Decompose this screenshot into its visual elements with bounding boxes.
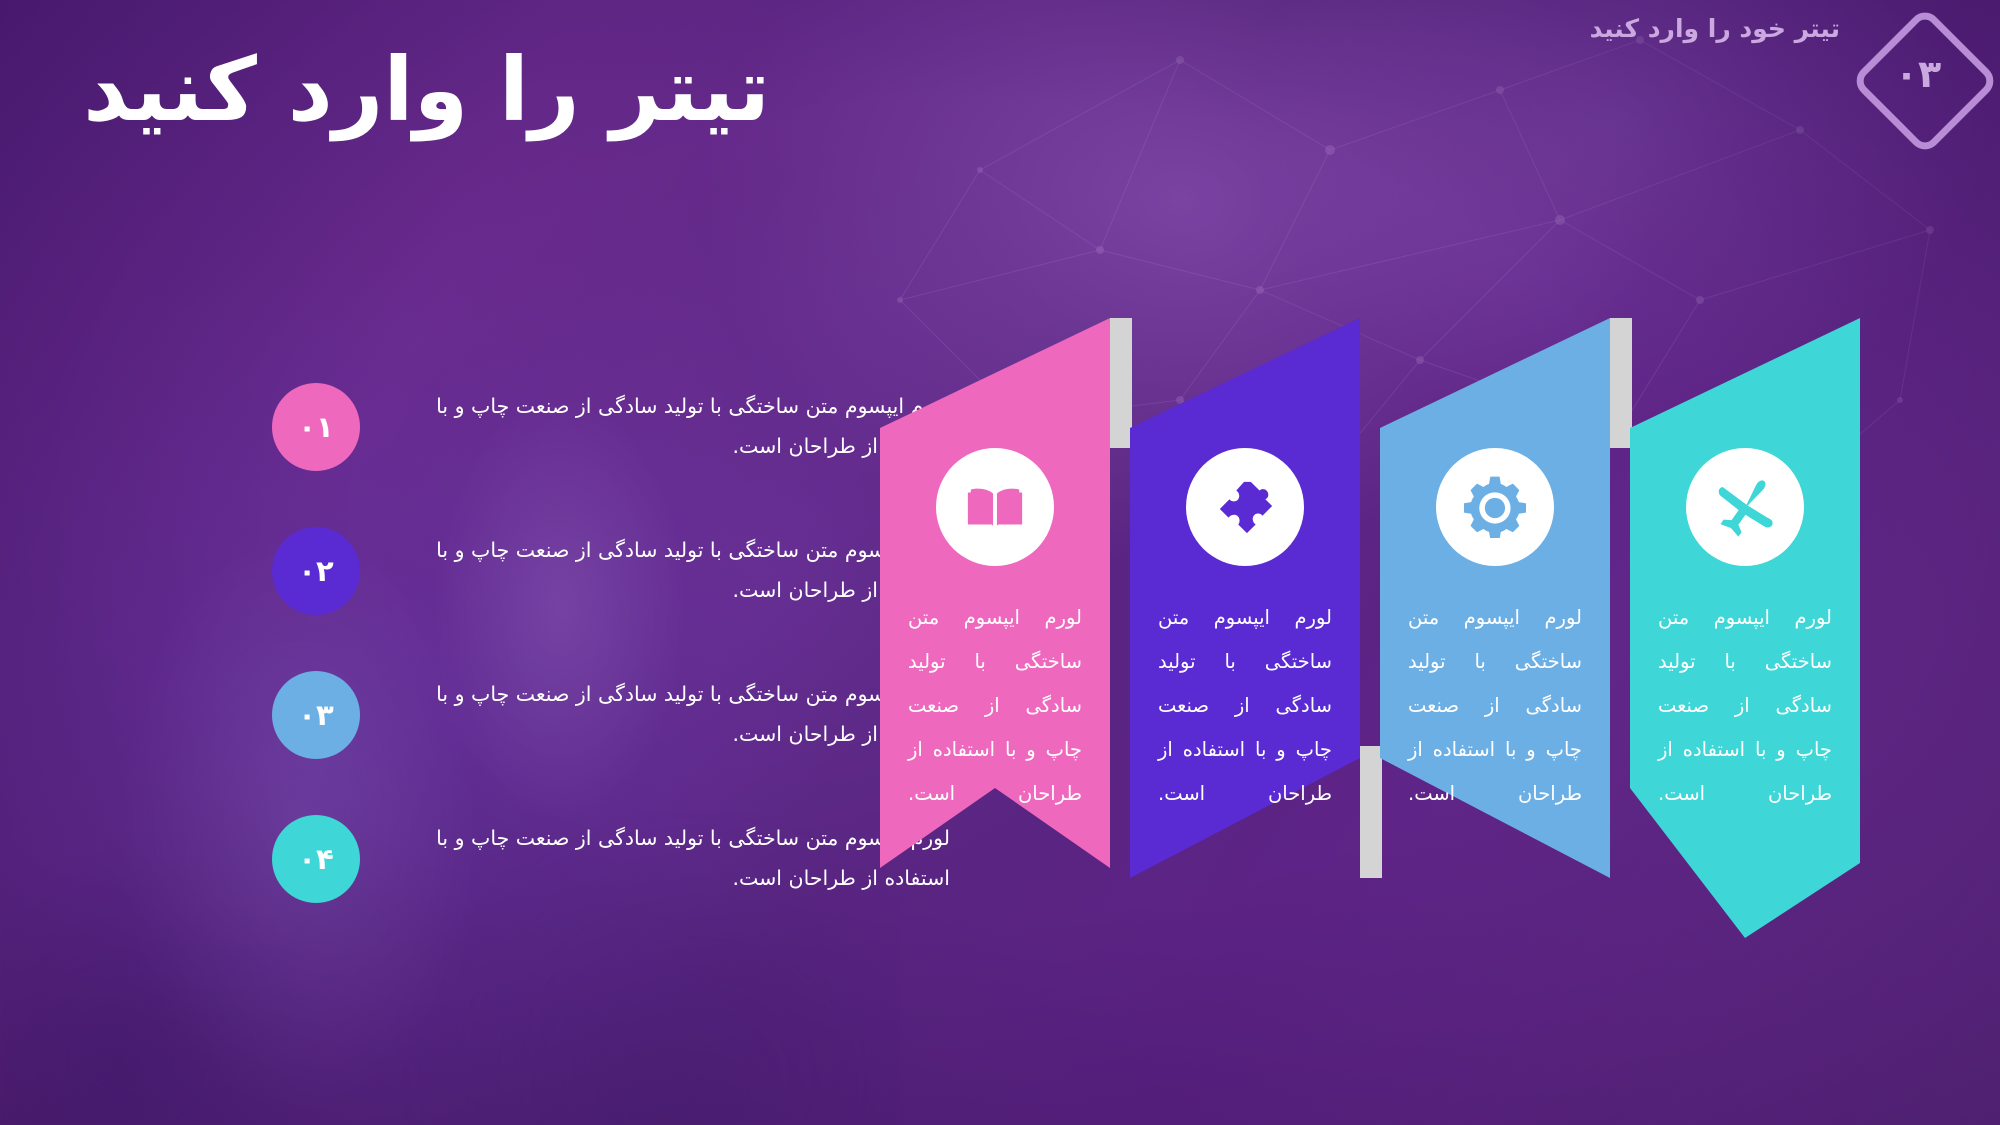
numbered-list: لورم ایپسوم متن ساختگی با تولید سادگی از…: [100, 355, 950, 931]
list-item[interactable]: لورم ایپسوم متن ساختگی با تولید سادگی از…: [100, 787, 950, 931]
airplane-icon: [1714, 476, 1776, 538]
list-item-number-badge: ۰۲: [272, 527, 360, 615]
ribbon-group: لورم ایپسوم متن ساختگی با تولید سادگی از…: [880, 318, 1970, 1038]
slide-number-text: ۰۳: [1858, 14, 1978, 134]
list-item-text: لورم ایپسوم متن ساختگی با تولید سادگی از…: [360, 819, 950, 899]
list-item-number: ۰۳: [298, 698, 333, 732]
puzzle-icon: [1214, 476, 1276, 538]
ribbon-divider-strip: [1610, 318, 1632, 448]
page-title: تیتر را وارد کنید: [83, 38, 770, 141]
ribbon-card-gear[interactable]: لورم ایپسوم متن ساختگی با تولید سادگی از…: [1380, 318, 1610, 1018]
ribbon-icon-circle: [1186, 448, 1304, 566]
slide-canvas: تیتر خود را وارد کنید ۰۳ تیتر را وارد کن…: [0, 0, 2000, 1125]
list-item-number: ۰۴: [298, 842, 333, 876]
ribbon-icon-circle: [936, 448, 1054, 566]
ribbon-divider-strip: [1360, 746, 1382, 878]
ribbon-card-puzzle[interactable]: لورم ایپسوم متن ساختگی با تولید سادگی از…: [1130, 318, 1360, 1018]
ribbon-icon-circle: [1436, 448, 1554, 566]
list-item[interactable]: لورم ایپسوم متن ساختگی با تولید سادگی از…: [100, 643, 950, 787]
ribbon-caption: لورم ایپسوم متن ساختگی با تولید سادگی از…: [908, 596, 1082, 815]
book-icon: [964, 476, 1026, 538]
list-item-text: لورم ایپسوم متن ساختگی با تولید سادگی از…: [360, 387, 950, 467]
list-item-number: ۰۲: [298, 554, 333, 588]
list-item[interactable]: لورم ایپسوم متن ساختگی با تولید سادگی از…: [100, 355, 950, 499]
gear-icon: [1464, 476, 1526, 538]
ribbon-caption: لورم ایپسوم متن ساختگی با تولید سادگی از…: [1658, 596, 1832, 815]
list-item-text: لورم ایپسوم متن ساختگی با تولید سادگی از…: [360, 531, 950, 611]
list-item-number-badge: ۰۱: [272, 383, 360, 471]
ribbon-icon-circle: [1686, 448, 1804, 566]
ribbon-divider-strip: [1110, 318, 1132, 448]
slide-number-badge: ۰۳: [1858, 14, 1978, 134]
ribbon-caption: لورم ایپسوم متن ساختگی با تولید سادگی از…: [1408, 596, 1582, 815]
list-item[interactable]: لورم ایپسوم متن ساختگی با تولید سادگی از…: [100, 499, 950, 643]
ribbon-caption: لورم ایپسوم متن ساختگی با تولید سادگی از…: [1158, 596, 1332, 815]
list-item-number-badge: ۰۴: [272, 815, 360, 903]
list-item-text: لورم ایپسوم متن ساختگی با تولید سادگی از…: [360, 675, 950, 755]
header-kicker: تیتر خود را وارد کنید: [1590, 14, 1840, 43]
ribbon-card-book[interactable]: لورم ایپسوم متن ساختگی با تولید سادگی از…: [880, 318, 1110, 1018]
ribbon-card-airplane[interactable]: لورم ایپسوم متن ساختگی با تولید سادگی از…: [1630, 318, 1860, 1018]
list-item-number: ۰۱: [298, 410, 333, 444]
list-item-number-badge: ۰۳: [272, 671, 360, 759]
